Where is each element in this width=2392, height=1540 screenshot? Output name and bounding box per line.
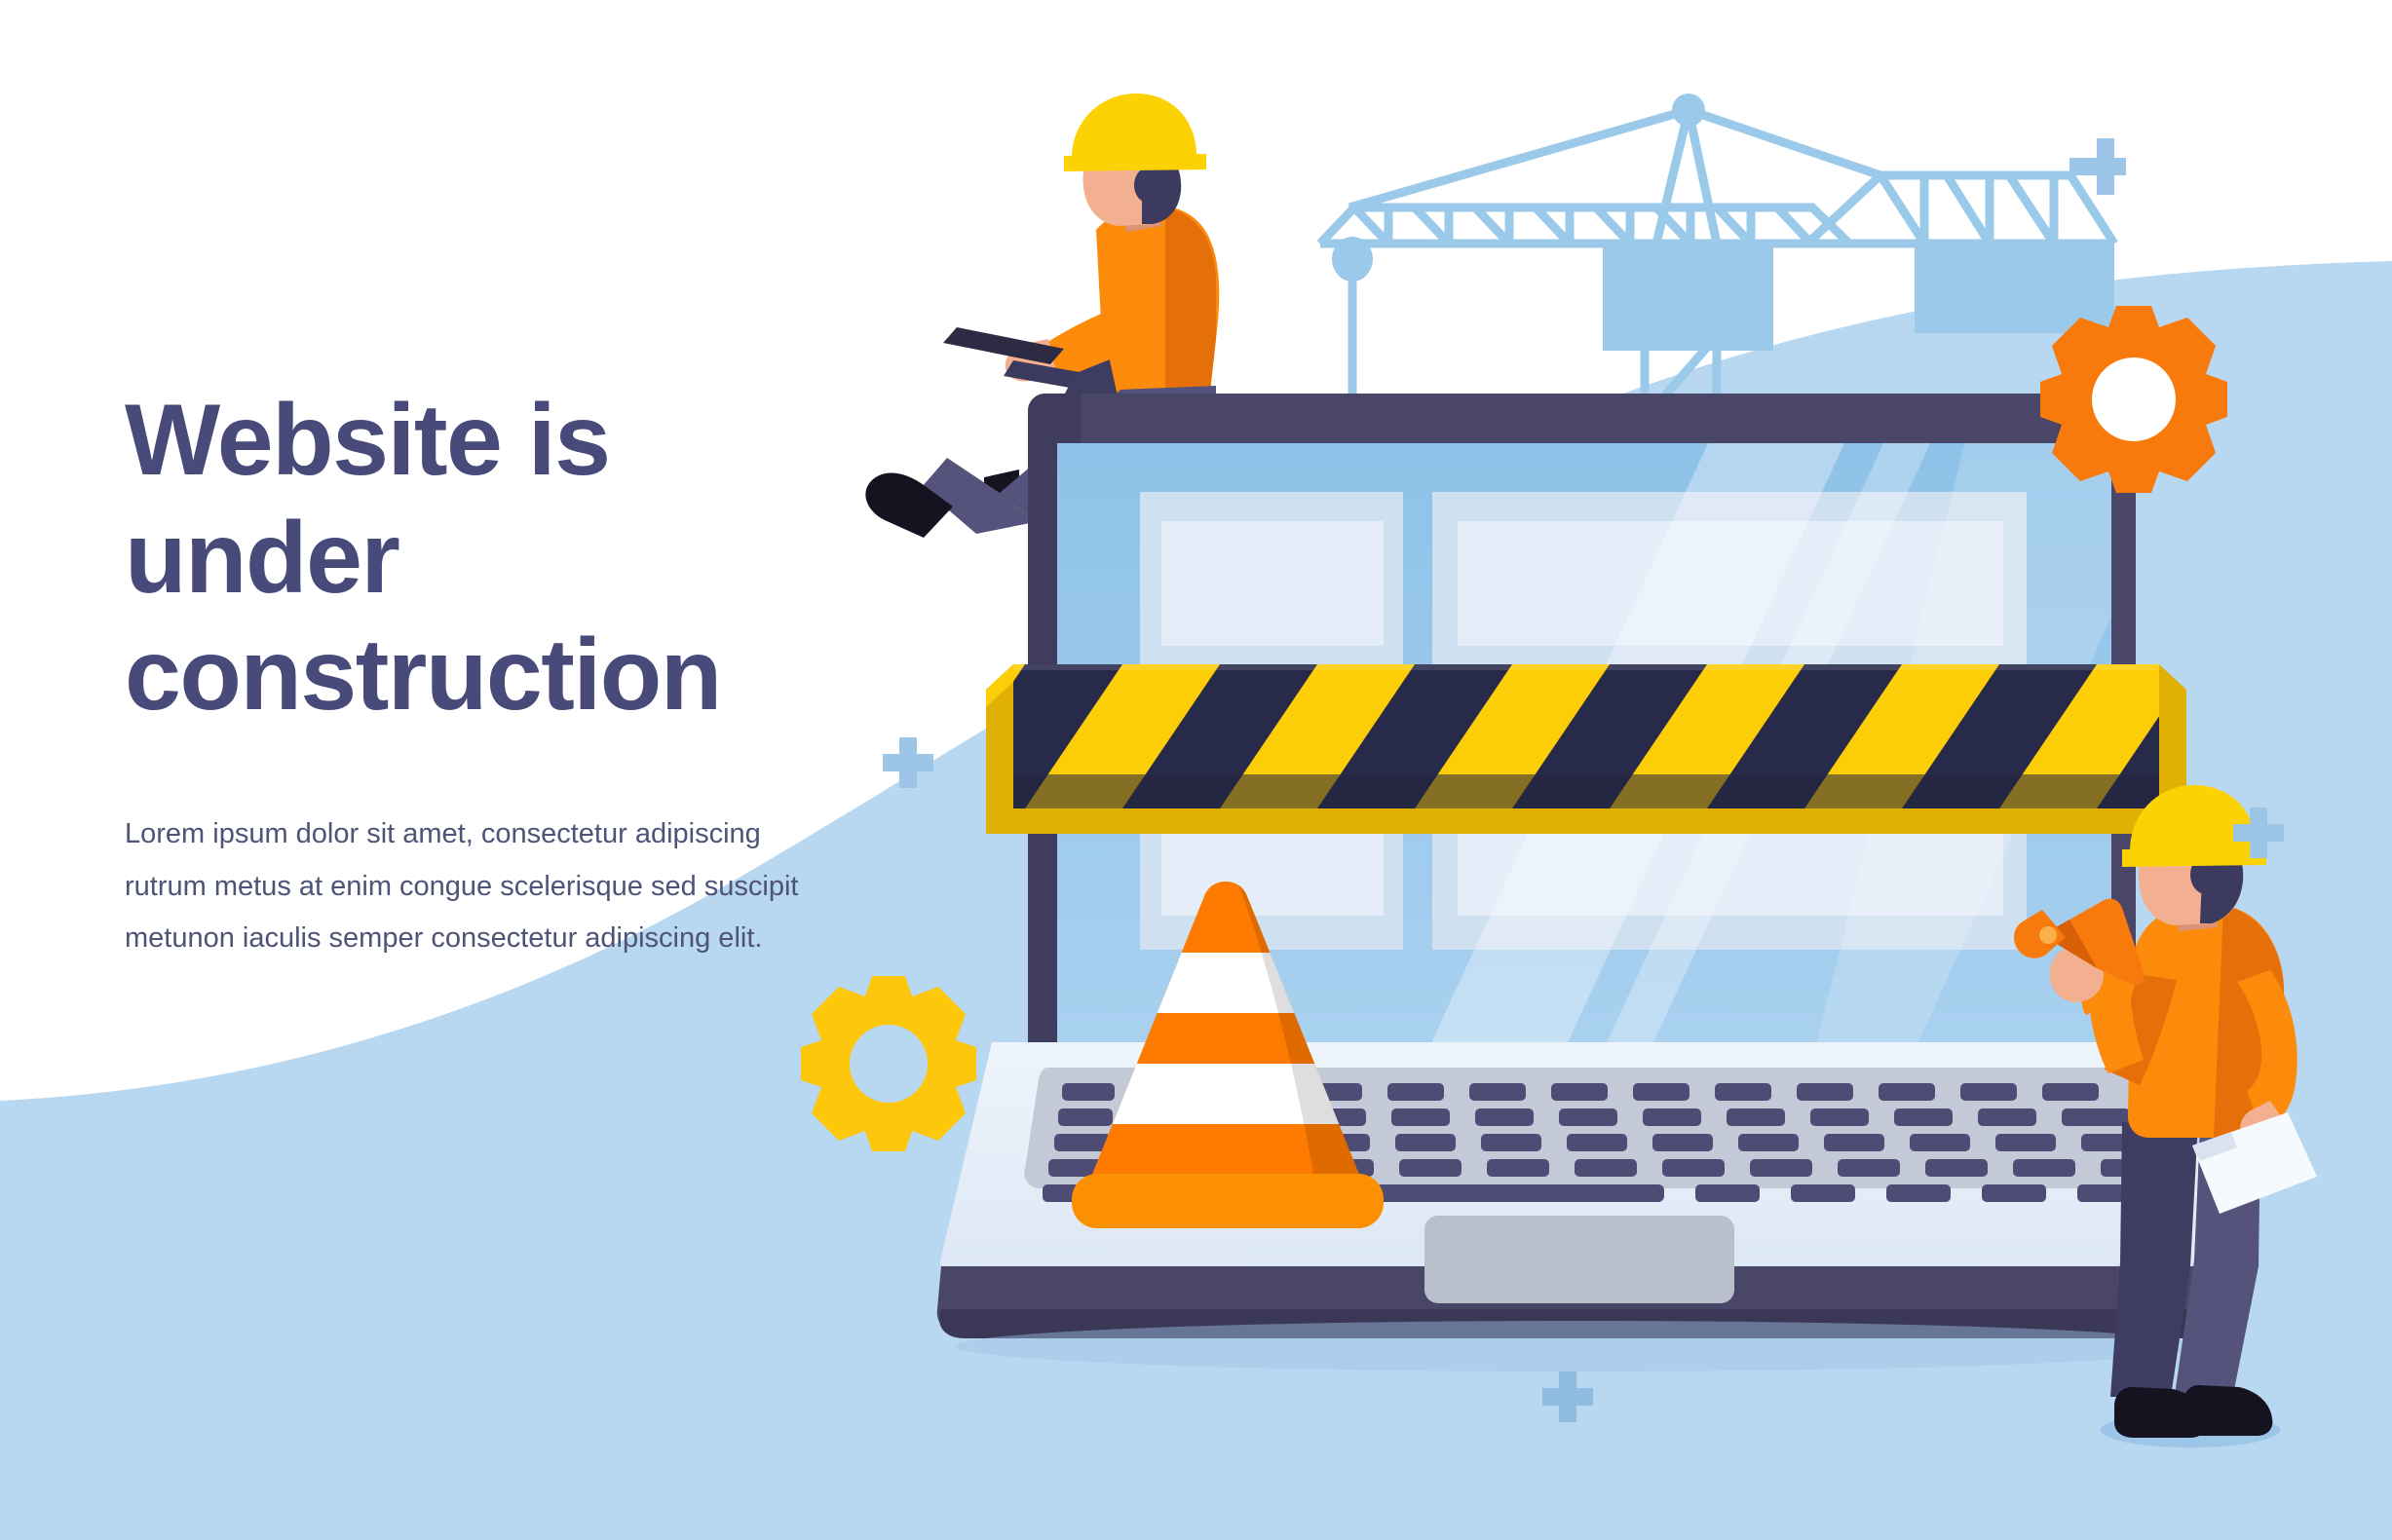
gear-orange-hole xyxy=(2092,357,2176,441)
construction-barrier xyxy=(830,664,2194,834)
gear-yellow xyxy=(801,976,976,1151)
crane-cab xyxy=(1603,244,1773,351)
illustration-canvas: Website is under construction Lorem ipsu… xyxy=(0,0,2392,1540)
sitting-worker-helmet-brim xyxy=(1064,154,1206,171)
hero-text-column: Website is under construction Lorem ipsu… xyxy=(125,382,807,965)
plus-decoration-bottom xyxy=(1542,1371,1593,1422)
laptop-ground-shadow xyxy=(955,1321,2202,1371)
sitting-worker-laptop-lid xyxy=(943,327,1064,364)
gear-orange xyxy=(2040,306,2227,493)
page-description: Lorem ipsum dolor sit amet, consectetur … xyxy=(125,808,807,965)
sitting-worker-ear xyxy=(1134,168,1161,203)
crane-trolley xyxy=(1332,237,1373,282)
cone-base xyxy=(1072,1174,1384,1228)
laptop-trackpad xyxy=(1424,1216,1734,1303)
barrier-underside xyxy=(986,808,2186,834)
gear-yellow-hole xyxy=(850,1025,928,1103)
page-title: Website is under construction xyxy=(125,382,807,734)
barrier-bottom-bevel xyxy=(1013,774,2159,808)
standing-worker-helmet-brim xyxy=(2122,847,2266,867)
plus-decoration-left xyxy=(883,737,933,788)
crane-apex-pulley xyxy=(1672,94,1705,127)
barrier-top-highlight xyxy=(1013,664,2159,670)
